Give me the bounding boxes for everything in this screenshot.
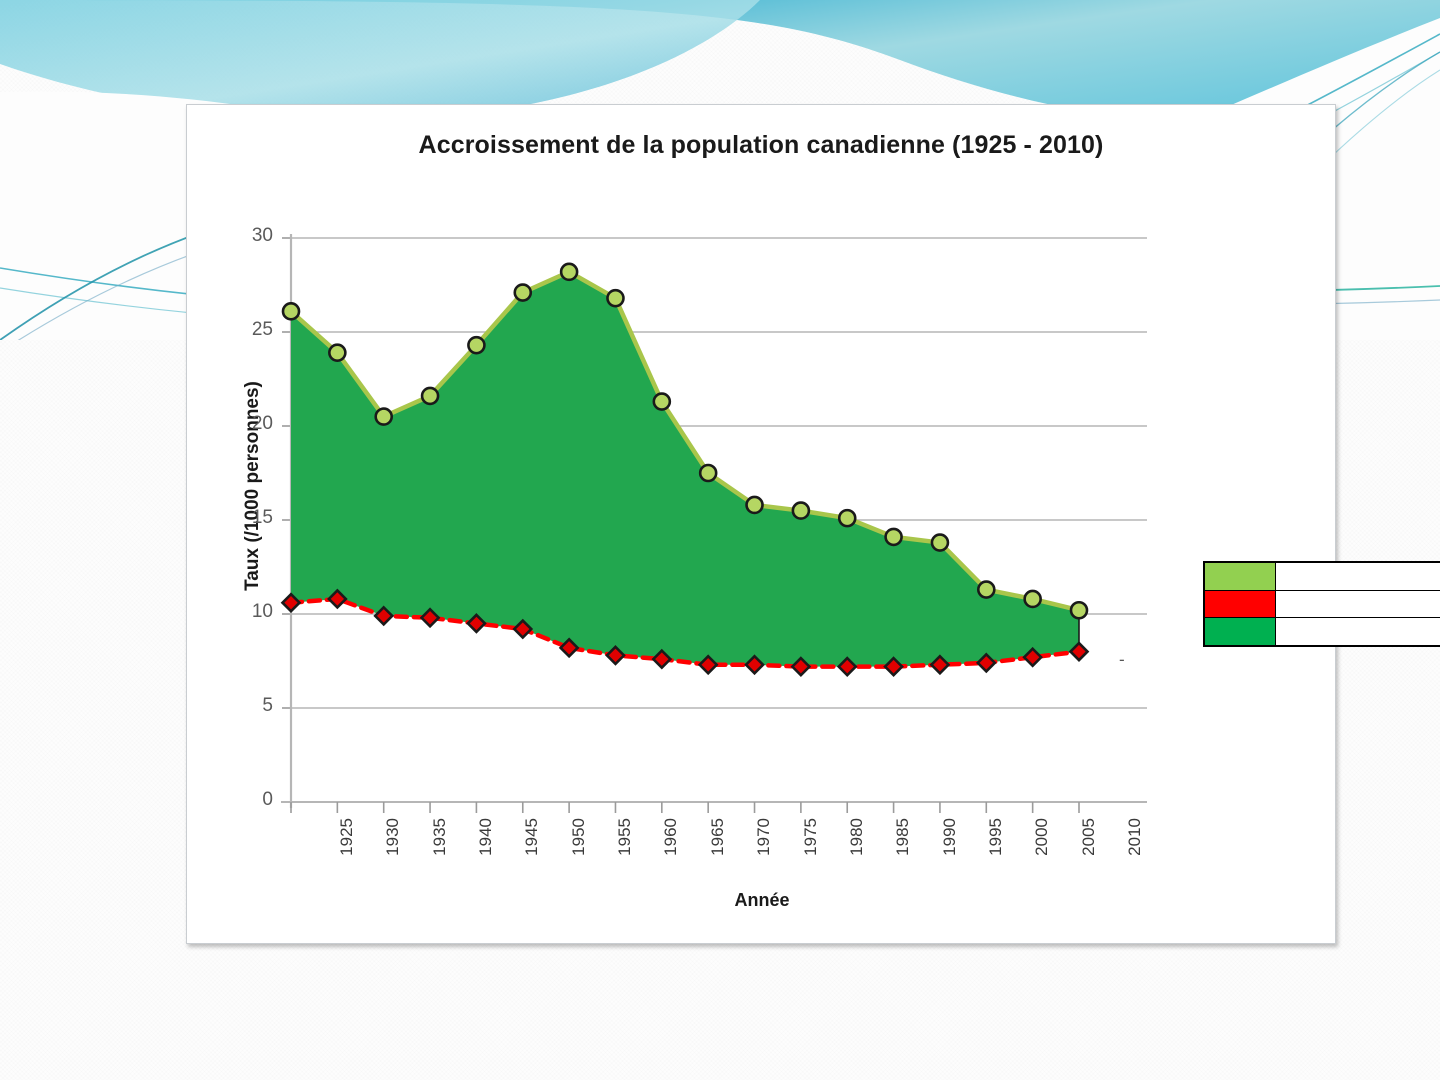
x-axis-tick-label: 1945 xyxy=(522,818,542,856)
legend-swatch-red xyxy=(1205,591,1276,618)
x-axis-tick-label: 2010 xyxy=(1125,818,1145,856)
legend-swatch-green xyxy=(1205,618,1276,645)
stray-dash-artifact: - xyxy=(1119,650,1125,670)
data-point-marker[interactable] xyxy=(376,409,392,425)
data-point-marker[interactable] xyxy=(654,394,670,410)
legend-label xyxy=(1276,563,1440,590)
x-axis-tick-label: 1965 xyxy=(708,818,728,856)
x-axis-tick-label: 1960 xyxy=(661,818,681,856)
y-axis-tick-label: 10 xyxy=(229,601,273,623)
data-point-marker[interactable] xyxy=(932,535,948,551)
y-axis-tick-label: 30 xyxy=(229,225,273,247)
x-axis-tick-label: 1930 xyxy=(383,818,403,856)
data-point-marker[interactable] xyxy=(283,303,299,319)
legend-label xyxy=(1276,591,1440,618)
data-point-marker[interactable] xyxy=(422,388,438,404)
data-point-marker[interactable] xyxy=(515,285,531,301)
y-axis-tick-label: 25 xyxy=(229,319,273,341)
legend-row[interactable] xyxy=(1205,618,1440,645)
chart-container[interactable]: Accroissement de la population canadienn… xyxy=(186,104,1336,944)
x-axis-tick-label: 1925 xyxy=(337,818,357,856)
data-point-marker[interactable] xyxy=(839,510,855,526)
x-axis-tick-label: 1955 xyxy=(615,818,635,856)
x-axis-tick-label: 2000 xyxy=(1032,818,1052,856)
y-axis-tick-label: 5 xyxy=(229,695,273,717)
legend-row[interactable] xyxy=(1205,591,1440,619)
x-axis-tick-label: 1935 xyxy=(430,818,450,856)
x-axis-tick-label: 2005 xyxy=(1078,818,1098,856)
x-axis-tick-label: 1995 xyxy=(986,818,1006,856)
data-point-marker[interactable] xyxy=(793,503,809,519)
data-point-marker[interactable] xyxy=(561,264,577,280)
y-axis-tick-label: 15 xyxy=(229,507,273,529)
x-axis-tick-label: 1950 xyxy=(569,818,589,856)
x-axis-tick-label: 1975 xyxy=(800,818,820,856)
data-point-marker[interactable] xyxy=(607,290,623,306)
data-point-marker[interactable] xyxy=(1025,591,1041,607)
data-point-marker[interactable] xyxy=(700,465,716,481)
chart-legend[interactable] xyxy=(1203,561,1440,647)
data-point-marker[interactable] xyxy=(1071,602,1087,618)
data-point-marker[interactable] xyxy=(886,529,902,545)
data-point-marker[interactable] xyxy=(978,582,994,598)
legend-swatch-light-green xyxy=(1205,563,1276,590)
legend-label xyxy=(1276,618,1440,645)
data-point-marker[interactable] xyxy=(747,497,763,513)
x-axis-tick-label: 1980 xyxy=(847,818,867,856)
y-axis-tick-label: 20 xyxy=(229,413,273,435)
x-axis-tick-label: 1940 xyxy=(476,818,496,856)
legend-row[interactable] xyxy=(1205,563,1440,591)
data-point-marker[interactable] xyxy=(329,345,345,361)
x-axis-tick-label: 1990 xyxy=(939,818,959,856)
x-axis-tick-label: 1970 xyxy=(754,818,774,856)
y-axis-tick-label: 0 xyxy=(229,789,273,811)
data-point-marker[interactable] xyxy=(468,337,484,353)
area-fill-between-series xyxy=(291,272,1079,667)
x-axis-tick-label: 1985 xyxy=(893,818,913,856)
plot-area: Taux (/1000 personnes) Année 05101520253… xyxy=(187,105,1337,945)
